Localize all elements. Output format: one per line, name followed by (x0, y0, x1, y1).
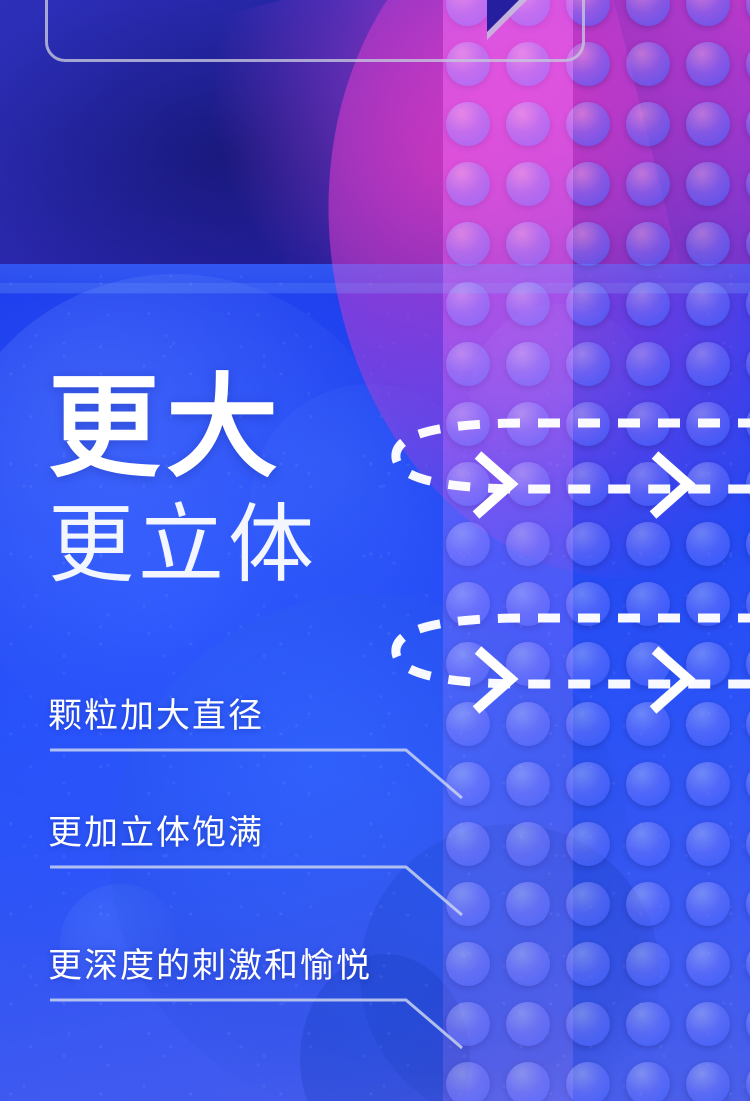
grid-dot (626, 222, 670, 266)
headline-secondary: 更立体 (48, 502, 318, 588)
feature-item: 颗粒加大直径 (48, 688, 708, 737)
grid-dot (746, 0, 750, 26)
bent-underline-icon (48, 742, 708, 804)
speech-bubble: 是否敷衍了事自己爽了就好？ (45, 0, 585, 62)
headline-primary: 更大 (48, 372, 318, 484)
grid-dot (626, 1062, 670, 1101)
grid-dot (686, 462, 730, 506)
grid-dot (686, 0, 730, 26)
bent-underline-icon (48, 992, 708, 1054)
grid-dot (746, 522, 750, 566)
magenta-column-tint (443, 0, 573, 1101)
grid-dot (686, 1062, 730, 1101)
grid-dot (746, 1062, 750, 1101)
grid-dot (746, 342, 750, 386)
grid-dot (686, 522, 730, 566)
grid-dot (626, 462, 670, 506)
grid-dot (626, 102, 670, 146)
grid-dot (746, 642, 750, 686)
grid-dot (626, 42, 670, 86)
grid-dot (746, 222, 750, 266)
grid-dot (686, 642, 730, 686)
grid-dot (746, 462, 750, 506)
grid-dot (746, 702, 750, 746)
grid-dot (746, 582, 750, 626)
grid-dot (746, 1002, 750, 1046)
feature-label: 更深度的刺激和愉悦 (48, 938, 708, 987)
grid-dot (626, 162, 670, 206)
grid-dot (686, 582, 730, 626)
grid-dot (746, 762, 750, 806)
grid-dot (746, 882, 750, 926)
grid-dot (626, 642, 670, 686)
feature-item: 更深度的刺激和愉悦 (48, 938, 708, 987)
grid-dot (746, 162, 750, 206)
grid-dot (686, 42, 730, 86)
grid-dot (746, 42, 750, 86)
grid-dot (746, 942, 750, 986)
grid-dot (686, 162, 730, 206)
speech-bubble-tail-fill (487, 0, 524, 32)
headline-block: 更大 更立体 (48, 372, 318, 588)
grid-dot (626, 402, 670, 446)
grid-dot (626, 0, 670, 26)
feature-label: 颗粒加大直径 (48, 688, 708, 737)
feature-item: 更加立体饱满 (48, 805, 708, 854)
grid-dot (686, 222, 730, 266)
grid-dot (686, 102, 730, 146)
grid-dot (746, 822, 750, 866)
product-detail-poster: 是否敷衍了事自己爽了就好？ 更大 更立体 颗粒加大直径 更加立体饱满 更深度的刺… (0, 0, 750, 1101)
feature-label: 更加立体饱满 (48, 805, 708, 854)
grid-dot (746, 102, 750, 146)
panel-seam-band-inner (0, 283, 750, 293)
bent-underline-icon (48, 859, 708, 921)
grid-dot (686, 402, 730, 446)
grid-dot (626, 342, 670, 386)
grid-dot (686, 342, 730, 386)
grid-dot (626, 582, 670, 626)
grid-dot (746, 402, 750, 446)
grid-dot (626, 522, 670, 566)
